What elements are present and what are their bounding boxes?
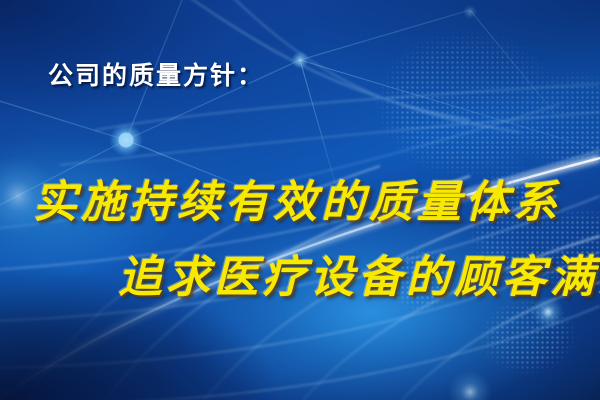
- slogan-line-2: 追求医疗设备的顾客满意: [118, 241, 600, 305]
- slogan-line-1: 实施持续有效的质量体系: [33, 166, 561, 230]
- slide-canvas: 公司的质量方针： 实施持续有效的质量体系 追求医疗设备的顾客满意: [0, 0, 600, 400]
- page-title: 公司的质量方针：: [48, 56, 264, 92]
